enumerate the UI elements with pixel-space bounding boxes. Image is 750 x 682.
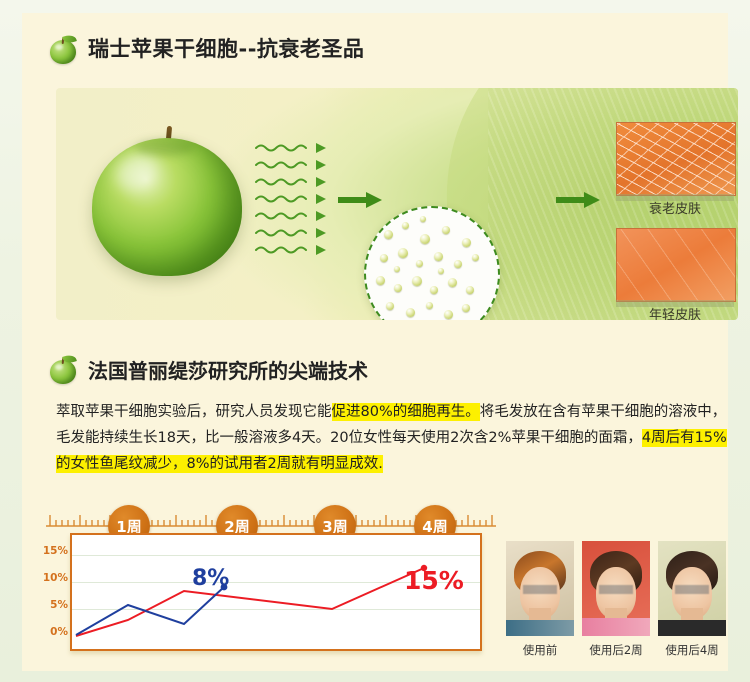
process-banner: 提取干细胞 衰老皮肤 年轻皮肤	[56, 88, 738, 320]
content-card: 瑞士苹果干细胞--抗衰老圣品	[22, 13, 728, 671]
photo-after-2weeks-caption: 使用后2周	[582, 642, 650, 658]
annotation-15-percent: 15%	[404, 566, 464, 595]
extraction-waves-icon	[254, 140, 328, 265]
section-header-2: 法国普丽缇莎研究所的尖端技术	[48, 349, 708, 389]
aging-skin-caption: 衰老皮肤	[618, 198, 732, 217]
section-title: 法国普丽缇莎研究所的尖端技术	[88, 355, 368, 384]
arrow-right-icon-2	[556, 192, 600, 208]
young-skin-caption: 年轻皮肤	[618, 304, 732, 320]
paragraph-part-1: 萃取苹果干细胞实验后，研究人员发现它能	[56, 404, 332, 420]
description-paragraph: 萃取苹果干细胞实验后，研究人员发现它能促进80%的细胞再生。将毛发放在含有苹果干…	[56, 399, 738, 477]
photo-after-2weeks[interactable]: 使用后2周	[582, 541, 650, 661]
before-after-photos: 使用前 使用后2周 使用后4周	[506, 541, 728, 661]
photo-after-4weeks[interactable]: 使用后4周	[658, 541, 726, 661]
y-tick-1: 5%	[50, 599, 68, 611]
aging-skin-image	[616, 122, 736, 196]
y-tick-2: 10%	[43, 572, 68, 584]
arrow-right-icon-1	[338, 192, 382, 208]
y-tick-3: 15%	[43, 545, 68, 557]
annotation-8-percent: 8%	[192, 566, 229, 591]
green-apple-icon	[48, 33, 78, 65]
chart-y-axis: 0% 5% 10% 15%	[46, 533, 70, 651]
y-tick-0: 0%	[50, 626, 68, 638]
apple-photo	[92, 126, 242, 276]
section-header-1: 瑞士苹果干细胞--抗衰老圣品	[48, 27, 708, 71]
young-skin-image	[616, 228, 736, 302]
photo-before-image	[506, 541, 574, 636]
photo-after-4weeks-caption: 使用后4周	[658, 642, 726, 658]
privacy-blur-bar	[675, 585, 709, 594]
privacy-blur-bar	[523, 585, 557, 594]
photo-after-2weeks-image	[582, 541, 650, 636]
page-root: 瑞士苹果干细胞--抗衰老圣品	[0, 0, 750, 682]
privacy-blur-bar	[599, 585, 633, 594]
photo-before-caption: 使用前	[506, 642, 574, 658]
page-title: 瑞士苹果干细胞--抗衰老圣品	[88, 39, 364, 60]
photo-after-4weeks-image	[658, 541, 726, 636]
green-apple-icon	[48, 353, 78, 385]
photo-before[interactable]: 使用前	[506, 541, 574, 661]
paragraph-highlight-1: 促进80%的细胞再生。	[332, 403, 480, 421]
